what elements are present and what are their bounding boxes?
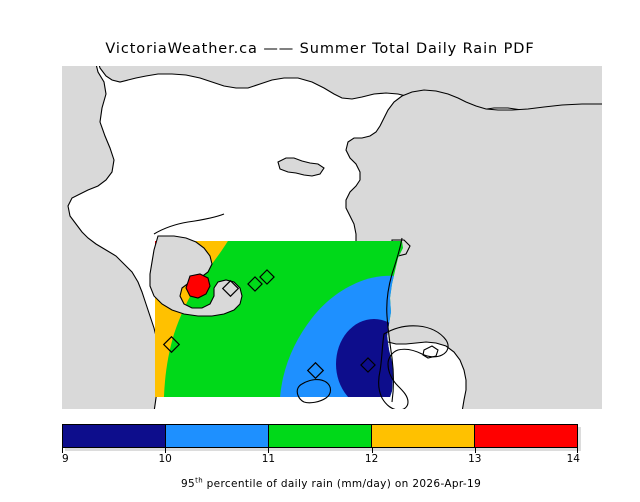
colorbar-tick-label: 9: [62, 453, 69, 465]
colorbar-block: 91011121314 95th percentile of daily rai…: [62, 424, 578, 476]
coastline-inner-bay-notch: [186, 274, 210, 298]
weather-map-page: VictoriaWeather.ca —— Summer Total Daily…: [0, 0, 640, 480]
map-canvas[interactable]: [62, 66, 602, 409]
colorbar-tick-label: 10: [159, 453, 172, 465]
colorbar-segment-12-13[interactable]: [372, 425, 475, 447]
page-title: VictoriaWeather.ca —— Summer Total Daily…: [0, 41, 640, 57]
colorbar-caption: 95th percentile of daily rain (mm/day) o…: [62, 466, 578, 502]
colorbar-segment-9-10[interactable]: [63, 425, 166, 447]
colorbar-tick-label: 12: [365, 453, 378, 465]
map-panel[interactable]: [62, 66, 602, 409]
colorbar-tick-label: 14: [567, 453, 580, 465]
colorbar-segment-11-12[interactable]: [269, 425, 372, 447]
colorbar-segment-13-14[interactable]: [475, 425, 577, 447]
colorbar[interactable]: [62, 424, 578, 448]
colorbar-tick-label: 11: [262, 453, 275, 465]
caption-superscript: th: [195, 477, 203, 485]
colorbar-segment-10-11[interactable]: [166, 425, 269, 447]
colorbar-tick-labels: 91011121314: [62, 453, 578, 467]
colorbar-tick-label: 13: [468, 453, 481, 465]
